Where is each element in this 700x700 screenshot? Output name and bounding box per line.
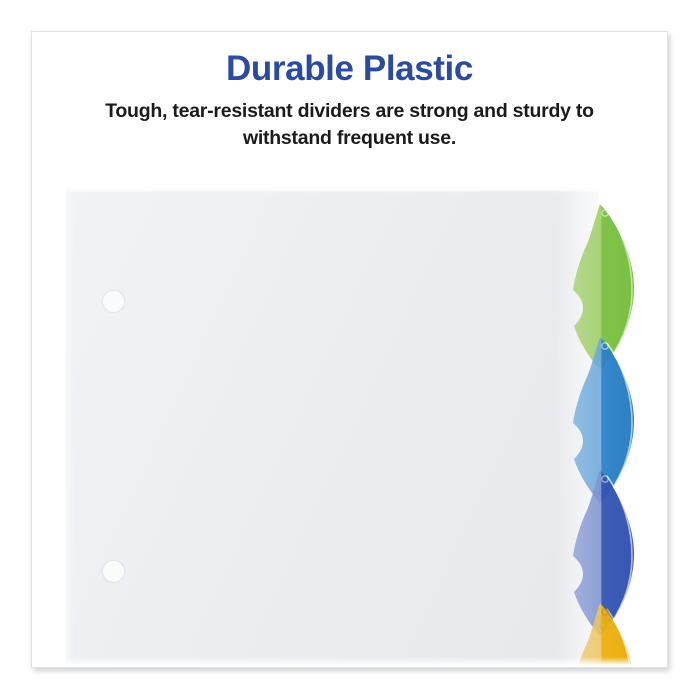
subtitle-text: Tough, tear-resistant dividers are stron… [70,98,630,152]
bottom-fade [32,657,667,667]
tab-column [562,32,668,667]
divider-sheet [66,189,598,668]
sheet-left-edge [66,189,74,668]
product-image-card: Durable Plastic Tough, tear-resistant di… [31,31,668,668]
sheet-top-edge [66,189,598,193]
punch-hole-top [103,291,124,312]
punch-hole-bottom [103,561,124,582]
